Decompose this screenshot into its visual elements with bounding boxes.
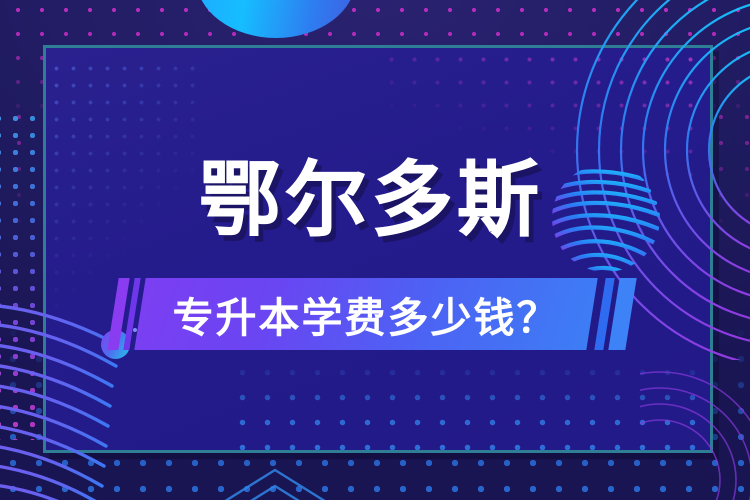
subtitle-text: 专升本学费多少钱？ <box>140 278 592 350</box>
chevron-outline-icon <box>190 462 360 500</box>
subtitle-banner: 专升本学费多少钱？ <box>108 278 628 350</box>
page-title: 鄂尔多斯 <box>0 160 750 242</box>
poster-canvas: 鄂尔多斯 专升本学费多少钱？ <box>0 0 750 500</box>
lower-right-arcs-icon <box>640 330 750 500</box>
panel-dot-field-bottom <box>230 360 710 455</box>
